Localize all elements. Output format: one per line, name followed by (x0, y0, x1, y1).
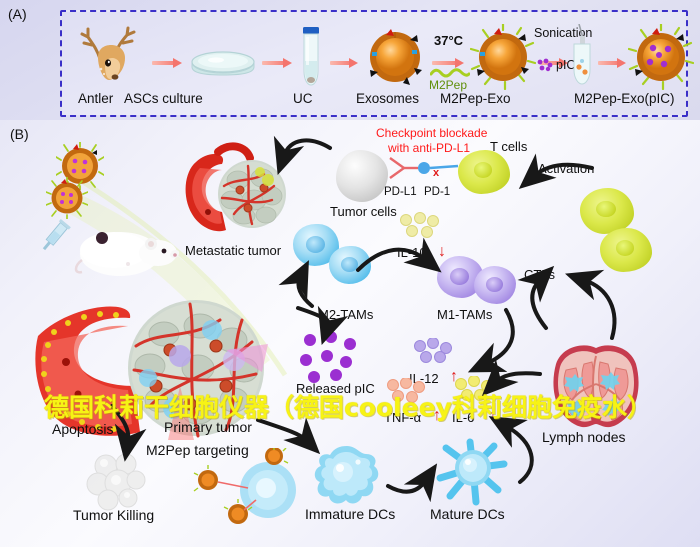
panel-b-label-tumor-killing: Tumor Killing (73, 508, 154, 523)
pic-dots-icon (536, 58, 554, 72)
m1-tam-icon-2 (474, 266, 516, 304)
peptide-exosome-icon (470, 24, 536, 90)
apoptotic-body-icon (84, 450, 150, 512)
panel-b-label-pd1: PD-1 (424, 186, 450, 198)
loaded-exosome-icon (628, 24, 694, 90)
mouse-icon (72, 220, 182, 282)
panel-b-label-tumor-cells: Tumor cells (330, 205, 397, 219)
il10-dots-icon (398, 212, 442, 242)
mature-dc-icon (432, 438, 514, 508)
panel-b-label-m2-tams: M2-TAMs (318, 308, 373, 322)
panel-a-annotation-m2pep: M2Pep (429, 79, 467, 92)
centrifuge-tube-icon (300, 27, 322, 89)
arrow-to-final-exosome (598, 58, 626, 67)
m2pep-targeting-group-icon (190, 448, 300, 524)
petri-dish-icon (190, 48, 256, 76)
panel-b: (B) (0, 120, 700, 547)
arrow-uc-to-exosomes (330, 58, 358, 67)
panel-a-label-uc: UC (293, 91, 313, 106)
panel-b-label-pdl1: PD-L1 (384, 186, 417, 198)
panel-b-label-apoptosis: Apoptosis (52, 422, 113, 437)
deer-icon (78, 25, 146, 87)
t-cell-bound-icon (458, 150, 510, 194)
panel-b-label-ctls: CTLs (524, 268, 555, 282)
immature-dc-icon (310, 442, 384, 508)
syringe-icon (36, 218, 72, 258)
arrow-culture-to-uc (262, 58, 292, 67)
metastatic-tumor-icon (178, 142, 298, 244)
exosome-icon (366, 28, 424, 86)
panel-a-label-ascs: ASCs culture (124, 91, 203, 106)
panel-a-label-m2pepexopic: M2Pep-Exo(pIC) (574, 91, 675, 106)
panel-a-label-m2pepexo: M2Pep-Exo (440, 91, 511, 106)
t-cell-icon-2 (600, 228, 652, 272)
svg-text:x: x (433, 167, 440, 179)
panel-b-label-immature-dcs: Immature DCs (305, 507, 395, 522)
sonicator-icon (570, 24, 594, 86)
panel-b-label-mature-dcs: Mature DCs (430, 507, 505, 522)
panel-b-label-m1-tams: M1-TAMs (437, 308, 492, 322)
panel-b-label-lymph-nodes: Lymph nodes (542, 430, 626, 445)
il10-down-arrow-icon: ↓ (438, 244, 446, 260)
panel-b-label-checkpoint-line1: Checkpoint blockade (376, 127, 487, 140)
watermark-text: 德国科莉干细胞仪器（德国cooleey科莉细胞免疫水） (44, 388, 664, 424)
figure-canvas: (A) Antler (0, 0, 700, 547)
panel-b-label-il10: IL-10 (397, 246, 427, 260)
panel-b-label-activation: Activation (538, 162, 594, 176)
m2pep-squiggle-icon (430, 66, 470, 78)
released-pic-dots-icon (300, 332, 360, 384)
panel-a-label-antler: Antler (78, 91, 113, 106)
il12-dots-icon (412, 338, 456, 368)
panel-a-label-exosomes: Exosomes (356, 91, 419, 106)
tumor-cell-icon (336, 150, 388, 202)
panel-a-tag: (A) (8, 6, 27, 22)
panel-b-label-checkpoint-line2: with anti-PD-L1 (388, 142, 470, 155)
panel-a: (A) Antler (0, 0, 700, 120)
panel-b-label-metastatic-tumor: Metastatic tumor (185, 244, 281, 258)
nanoparticle-icon-2 (46, 177, 88, 219)
m2-tam-icon-2 (329, 246, 371, 284)
panel-a-annotation-temperature: 37°C (434, 34, 463, 48)
panel-b-label-t-cells: T cells (490, 140, 527, 154)
arrow-antler-to-culture (152, 58, 182, 67)
panel-b-tag: (B) (10, 126, 29, 142)
